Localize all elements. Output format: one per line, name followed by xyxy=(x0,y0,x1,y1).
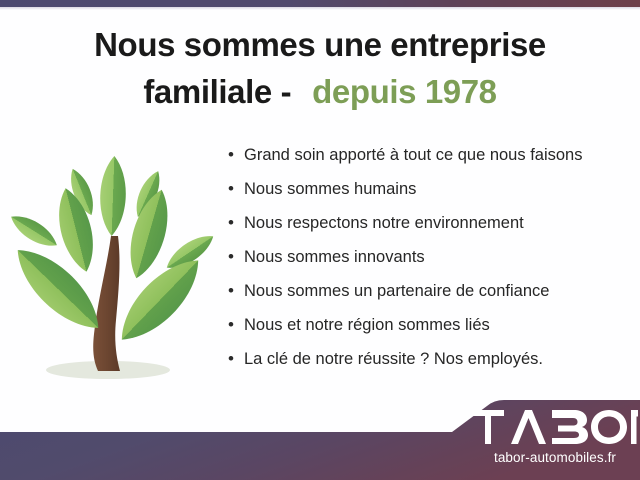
list-item-label: Grand soin apporté à tout ce que nous fa… xyxy=(244,147,582,164)
list-item: • La clé de notre réussite ? Nos employé… xyxy=(228,350,632,384)
slide-canvas: Nous sommes une entreprise familiale - d… xyxy=(0,0,640,480)
top-accent-bar-shadow xyxy=(0,7,640,10)
list-item: • Nous et notre région sommes liés xyxy=(228,316,632,350)
list-item-label: Nous et notre région sommes liés xyxy=(244,317,490,334)
list-item: • Grand soin apporté à tout ce que nous … xyxy=(228,146,632,180)
page-title-spacer xyxy=(300,73,312,110)
tree-trunk xyxy=(93,236,120,371)
brand-wordmark xyxy=(470,410,640,444)
brand-logo[interactable]: tabor-automobiles.fr xyxy=(470,404,640,480)
tabor-letterforms xyxy=(472,410,638,444)
bullet-marker-icon: • xyxy=(228,316,244,333)
brand-tagline: tabor-automobiles.fr xyxy=(470,450,640,465)
list-item: • Nous respectons notre environnement xyxy=(228,214,632,248)
page-title-line-2-black: familiale - xyxy=(143,73,300,110)
bullet-marker-icon: • xyxy=(228,180,244,197)
page-title-line-1: Nous sommes une entreprise xyxy=(0,22,640,69)
page-title-line-2-accent: depuis 1978 xyxy=(312,73,497,110)
bullet-marker-icon: • xyxy=(228,282,244,299)
benefits-list: • Grand soin apporté à tout ce que nous … xyxy=(228,146,632,384)
bullet-marker-icon: • xyxy=(228,146,244,163)
page-title: Nous sommes une entreprise familiale - d… xyxy=(0,22,640,116)
top-accent-bar xyxy=(0,0,640,7)
bullet-marker-icon: • xyxy=(228,350,244,367)
list-item: • Nous sommes un partenaire de confiance xyxy=(228,282,632,316)
page-title-line-2: familiale - depuis 1978 xyxy=(0,69,640,116)
list-item: • Nous sommes humains xyxy=(228,180,632,214)
list-item-label: La clé de notre réussite ? Nos employés. xyxy=(244,351,543,368)
list-item-label: Nous sommes humains xyxy=(244,181,416,198)
list-item: • Nous sommes innovants xyxy=(228,248,632,282)
list-item-label: Nous respectons notre environnement xyxy=(244,215,524,232)
bullet-marker-icon: • xyxy=(228,214,244,231)
tree-illustration xyxy=(8,148,220,390)
list-item-label: Nous sommes innovants xyxy=(244,249,425,266)
list-item-label: Nous sommes un partenaire de confiance xyxy=(244,283,549,300)
bullet-marker-icon: • xyxy=(228,248,244,265)
